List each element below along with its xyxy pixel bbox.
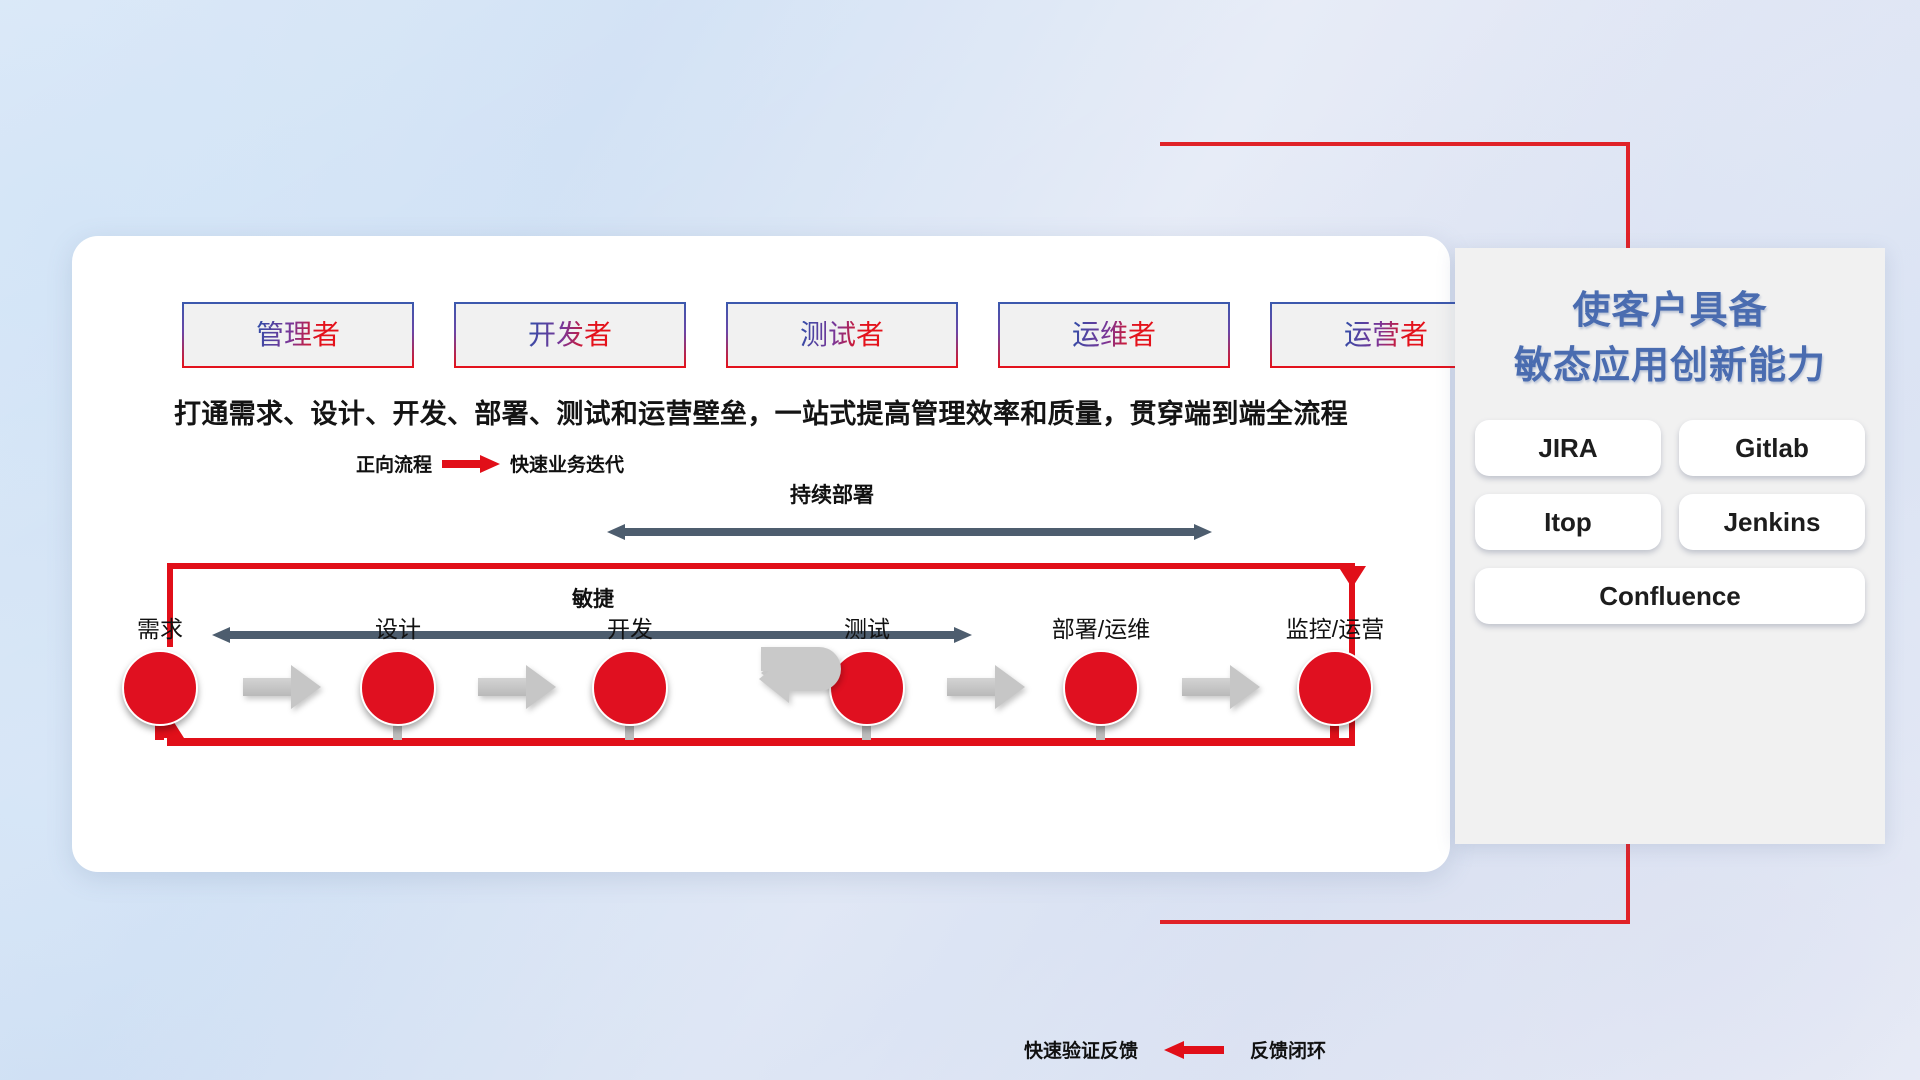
role-label: 测试者: [800, 321, 884, 349]
role-box-ops[interactable]: 运维者: [998, 302, 1230, 368]
tagline-text: 打通需求、设计、开发、部署、测试和运营壁垒，一站式提高管理效率和质量，贯穿端到端…: [72, 392, 1450, 431]
stage-develop[interactable]: 开发: [588, 650, 672, 726]
role-label: 运维者: [1072, 321, 1156, 349]
stage-dot-icon: [1063, 650, 1139, 726]
arrow-left-red-icon: [1164, 1041, 1224, 1059]
stage-dot-icon: [360, 650, 436, 726]
cycle-uturn-arrow-icon: [757, 643, 865, 715]
stage-deploy-ops[interactable]: 部署/运维: [1059, 650, 1143, 726]
legend-feedback-to-label: 快速验证反馈: [1024, 1036, 1138, 1063]
measure-label-continuous-deploy: 持续部署: [790, 479, 874, 509]
red-loop-bottom-rail: [167, 738, 1355, 746]
role-box-manager[interactable]: 管理者: [182, 302, 414, 368]
panel-title-line1: 使客户具备: [1572, 290, 1767, 332]
stage-design[interactable]: 设计: [356, 650, 440, 726]
step-arrow-right-icon: [243, 665, 321, 709]
stage-requirement[interactable]: 需求: [118, 650, 202, 726]
legend-feedback-loop: 快速验证反馈 反馈闭环: [1024, 1036, 1326, 1063]
panel-title: 使客户具备 敏态应用创新能力: [1455, 248, 1885, 394]
stage-dot-icon: [122, 650, 198, 726]
legend-forward-flow: 正向流程 快速业务迭代: [356, 450, 624, 477]
stage-monitor-operations[interactable]: 监控/运营: [1293, 650, 1377, 726]
stage-label: 设计: [375, 610, 421, 644]
tool-jenkins[interactable]: Jenkins: [1679, 494, 1865, 550]
panel-title-line2: 敏态应用创新能力: [1514, 345, 1826, 387]
stage-label: 监控/运营: [1286, 610, 1384, 644]
stage-label: 开发: [607, 610, 653, 644]
legend-forward-to-label: 快速业务迭代: [510, 450, 624, 477]
step-arrow-right-icon: [478, 665, 556, 709]
measure-label-agile: 敏捷: [572, 583, 614, 613]
role-label: 运营者: [1344, 321, 1428, 349]
tool-list: JIRA Gitlab Itop Jenkins Confluence: [1475, 420, 1865, 624]
stage-dot-icon: [1297, 650, 1373, 726]
measure-arrow-continuous-deploy: [607, 524, 1212, 540]
tool-itop[interactable]: Itop: [1475, 494, 1661, 550]
stage-label: 测试: [844, 610, 890, 644]
step-arrow-right-icon: [947, 665, 1025, 709]
role-box-tester[interactable]: 测试者: [726, 302, 958, 368]
right-panel: 使客户具备 敏态应用创新能力 JIRA Gitlab Itop Jenkins …: [1455, 248, 1885, 844]
red-loop-top-rail: [167, 563, 1355, 569]
role-box-list: 管理者 开发者 测试者 运维者 运营者: [182, 302, 1502, 368]
legend-feedback-from-label: 反馈闭环: [1250, 1036, 1326, 1063]
arrow-right-red-icon: [442, 455, 500, 473]
role-label: 开发者: [528, 321, 612, 349]
stage-label: 需求: [137, 610, 183, 644]
tool-confluence[interactable]: Confluence: [1475, 568, 1865, 624]
tool-jira[interactable]: JIRA: [1475, 420, 1661, 476]
red-loop-down-arrowhead-icon: [1338, 566, 1366, 588]
role-box-developer[interactable]: 开发者: [454, 302, 686, 368]
step-arrow-right-icon: [1182, 665, 1260, 709]
tool-gitlab[interactable]: Gitlab: [1679, 420, 1865, 476]
legend-forward-from-label: 正向流程: [356, 450, 432, 477]
stage-dot-icon: [592, 650, 668, 726]
main-card: 管理者 开发者 测试者 运维者 运营者 打通需求、设计、开发、部署、测试和运营壁…: [72, 236, 1450, 872]
stage-label: 部署/运维: [1052, 610, 1150, 644]
role-label: 管理者: [256, 321, 340, 349]
